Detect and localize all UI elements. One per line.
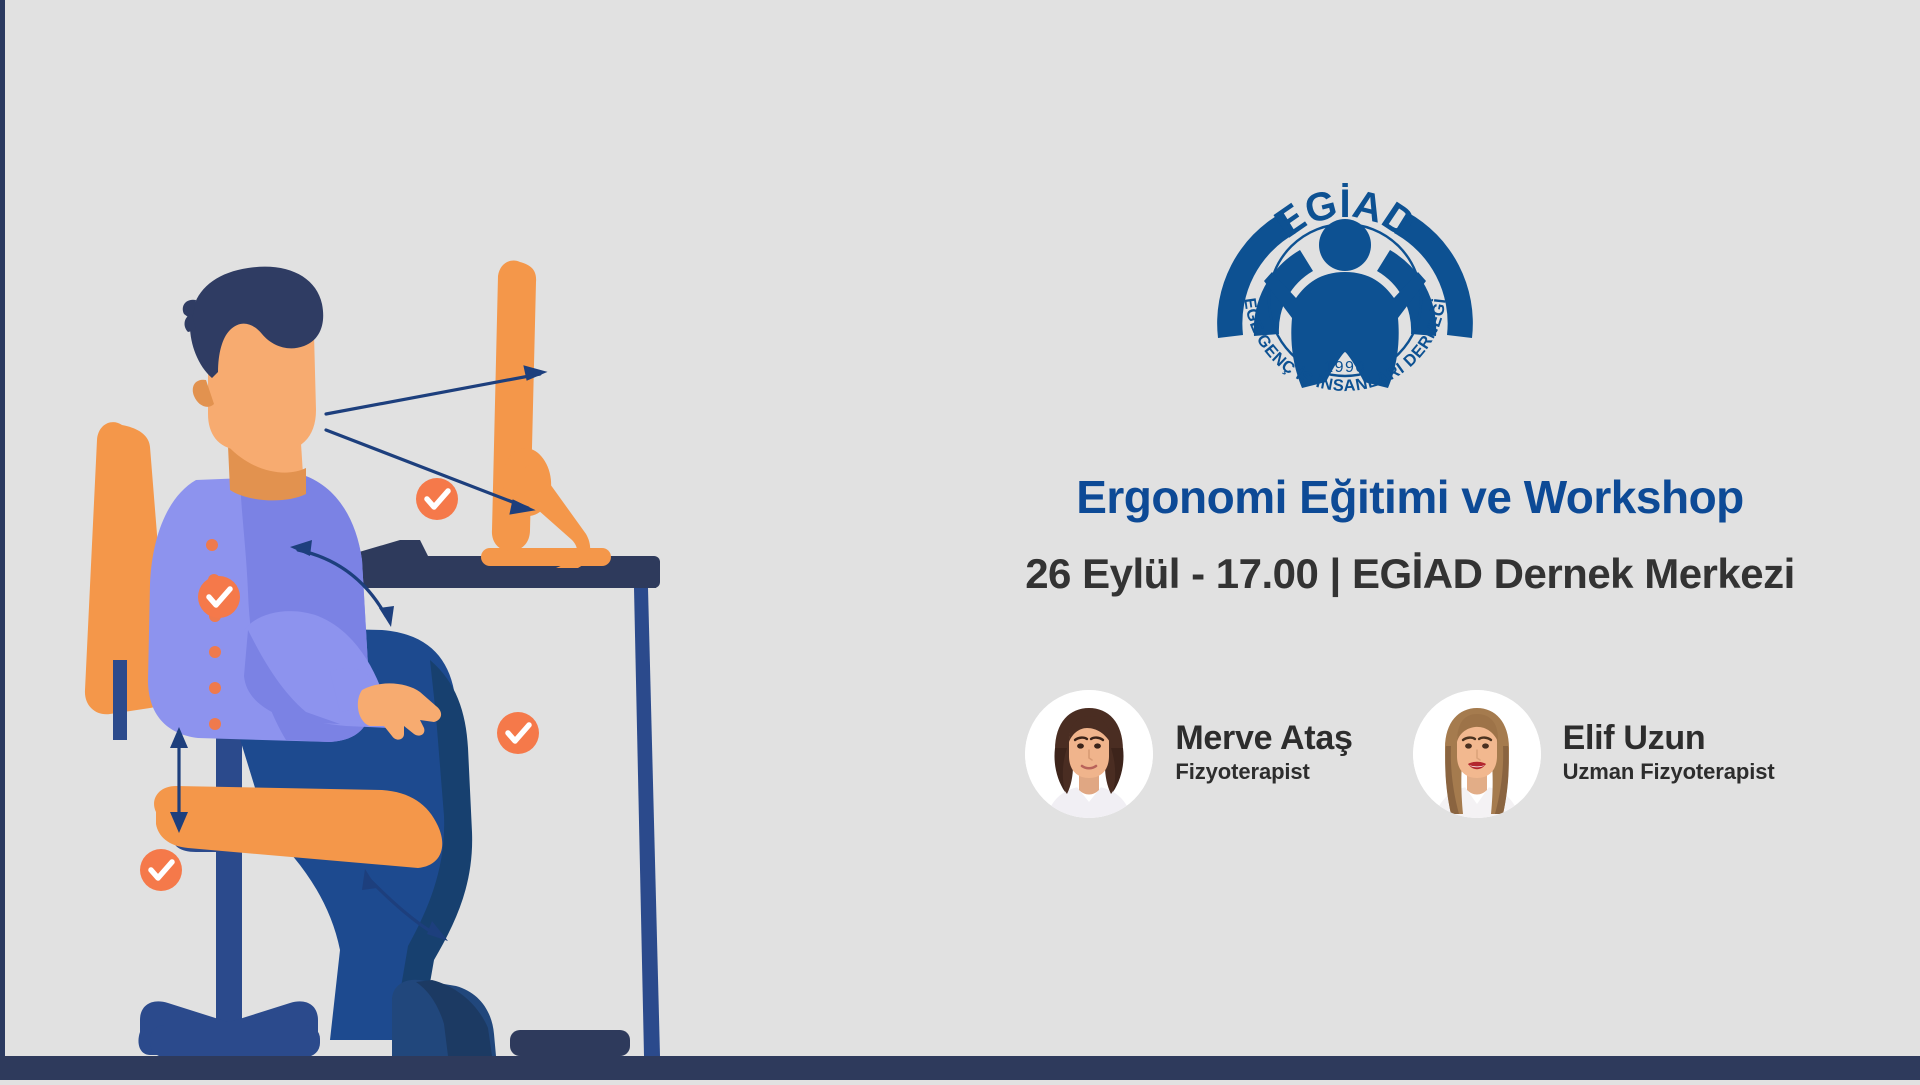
elbow-arrow-head-right: [379, 606, 394, 627]
speaker-info-0: Merve Ataş Fizyoterapist: [1175, 720, 1352, 788]
left-border-accent: [0, 0, 5, 1080]
chair-seat-icon: [154, 786, 442, 868]
check-badge-3: [497, 712, 539, 754]
egiad-logo: EGİAD 1990 EGE GENÇ İŞ İNSANLARI DERNEĞİ: [1210, 150, 1480, 410]
speaker-card-0: Merve Ataş Fizyoterapist: [1025, 690, 1352, 818]
speaker-name: Merve Ataş: [1175, 720, 1352, 757]
speaker-role: Fizyoterapist: [1175, 757, 1352, 788]
speaker-avatar-merve-atas: [1025, 690, 1153, 818]
speaker-name: Elif Uzun: [1563, 720, 1775, 757]
content-column: EGİAD 1990 EGE GENÇ İŞ İNSANLARI DERNEĞİ…: [900, 0, 1920, 1080]
poster-canvas: EGİAD 1990 EGE GENÇ İŞ İNSANLARI DERNEĞİ…: [0, 0, 1920, 1080]
check-badge-1: [198, 576, 240, 618]
ergonomic-posture-illustration: [0, 0, 860, 1080]
monitor-icon: [481, 261, 611, 568]
speakers-row: Merve Ataş Fizyoterapist: [840, 690, 1920, 818]
speaker-avatar-elif-uzun: [1413, 690, 1541, 818]
speaker-card-1: Elif Uzun Uzman Fizyoterapist: [1413, 690, 1775, 818]
check-badge-2: [416, 478, 458, 520]
person-head: [183, 267, 323, 501]
person-shoe: [392, 980, 630, 1056]
event-subtitle: 26 Eylül - 17.00 | EGİAD Dernek Merkezi: [900, 550, 1920, 598]
event-title: Ergonomi Eğitimi ve Workshop: [900, 470, 1920, 524]
bottom-border-bar: [0, 1056, 1920, 1080]
speaker-info-1: Elif Uzun Uzman Fizyoterapist: [1563, 720, 1775, 788]
check-badge-4: [140, 849, 182, 891]
speaker-role: Uzman Fizyoterapist: [1563, 757, 1775, 788]
logo-year: 1990: [1324, 359, 1366, 376]
